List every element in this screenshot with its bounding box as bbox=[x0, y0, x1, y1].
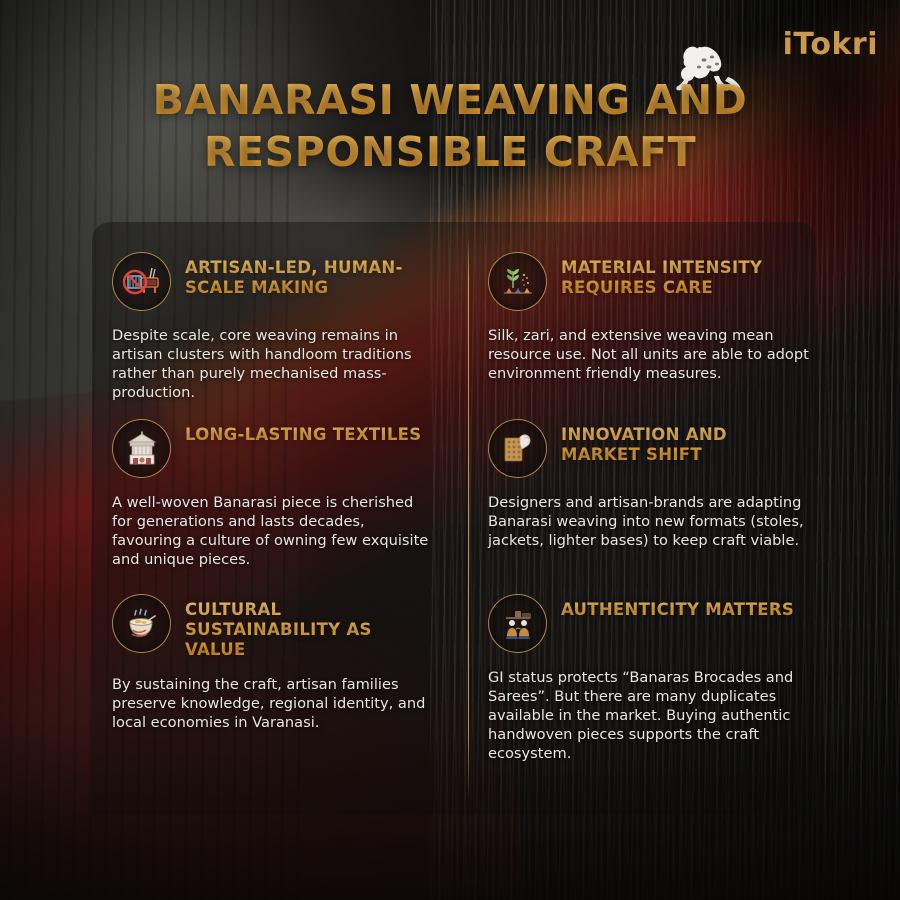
card-header: CULTURAL SUSTAINABILITY AS VALUE bbox=[112, 594, 437, 660]
card-body: Designers and artisan-brands are adaptin… bbox=[488, 494, 808, 551]
no-machine-loom-icon bbox=[112, 252, 171, 311]
infographic-canvas: iTokri BANARASI WEAVING AND RESPONSIBLE … bbox=[0, 0, 900, 900]
column-divider bbox=[468, 238, 469, 800]
card-cultural-sustainability[interactable]: CULTURAL SUSTAINABILITY AS VALUE By sust… bbox=[112, 594, 437, 733]
card-header: MATERIAL INTENSITY REQUIRES CARE bbox=[488, 252, 818, 311]
steaming-dye-pot-icon bbox=[112, 594, 171, 653]
card-artisan-led[interactable]: ARTISAN-LED, HUMAN-SCALE MAKING Despite … bbox=[112, 252, 442, 403]
card-body: A well-woven Banarasi piece is cherished… bbox=[112, 494, 432, 570]
page-title-line-1: BANARASI WEAVING AND bbox=[90, 74, 810, 126]
card-title: LONG-LASTING TEXTILES bbox=[185, 419, 421, 445]
card-header: INNOVATION AND MARKET SHIFT bbox=[488, 419, 808, 478]
card-body: Silk, zari, and extensive weaving mean r… bbox=[488, 327, 818, 384]
card-body: Despite scale, core weaving remains in a… bbox=[112, 327, 442, 403]
page-title: BANARASI WEAVING AND RESPONSIBLE CRAFT bbox=[0, 74, 900, 179]
card-header: LONG-LASTING TEXTILES bbox=[112, 419, 432, 478]
two-seated-artisans-icon bbox=[488, 594, 547, 653]
content-panel: ARTISAN-LED, HUMAN-SCALE MAKING Despite … bbox=[92, 222, 816, 814]
brand-logo-text: iTokri bbox=[783, 30, 878, 60]
hand-holding-fabric-swatch-icon bbox=[488, 419, 547, 478]
card-long-lasting-textiles[interactable]: LONG-LASTING TEXTILES A well-woven Banar… bbox=[112, 419, 432, 570]
heritage-shop-building-icon bbox=[112, 419, 171, 478]
brand-logo[interactable]: iTokri bbox=[783, 30, 878, 60]
card-material-intensity[interactable]: MATERIAL INTENSITY REQUIRES CARE Silk, z… bbox=[488, 252, 818, 384]
card-innovation-market-shift[interactable]: INNOVATION AND MARKET SHIFT Designers an… bbox=[488, 419, 808, 551]
card-title: MATERIAL INTENSITY REQUIRES CARE bbox=[561, 252, 818, 298]
card-title: AUTHENTICITY MATTERS bbox=[561, 594, 794, 620]
card-title: ARTISAN-LED, HUMAN-SCALE MAKING bbox=[185, 252, 442, 298]
page-title-line-2: RESPONSIBLE CRAFT bbox=[90, 126, 810, 178]
card-header: AUTHENTICITY MATTERS bbox=[488, 594, 818, 653]
card-body: By sustaining the craft, artisan familie… bbox=[112, 676, 437, 733]
card-header: ARTISAN-LED, HUMAN-SCALE MAKING bbox=[112, 252, 442, 311]
plant-dye-pigments-icon bbox=[488, 252, 547, 311]
card-title: INNOVATION AND MARKET SHIFT bbox=[561, 419, 808, 465]
card-body: GI status protects “Banaras Brocades and… bbox=[488, 669, 818, 764]
card-authenticity-matters[interactable]: AUTHENTICITY MATTERS GI status protects … bbox=[488, 594, 818, 764]
card-title: CULTURAL SUSTAINABILITY AS VALUE bbox=[185, 594, 437, 660]
